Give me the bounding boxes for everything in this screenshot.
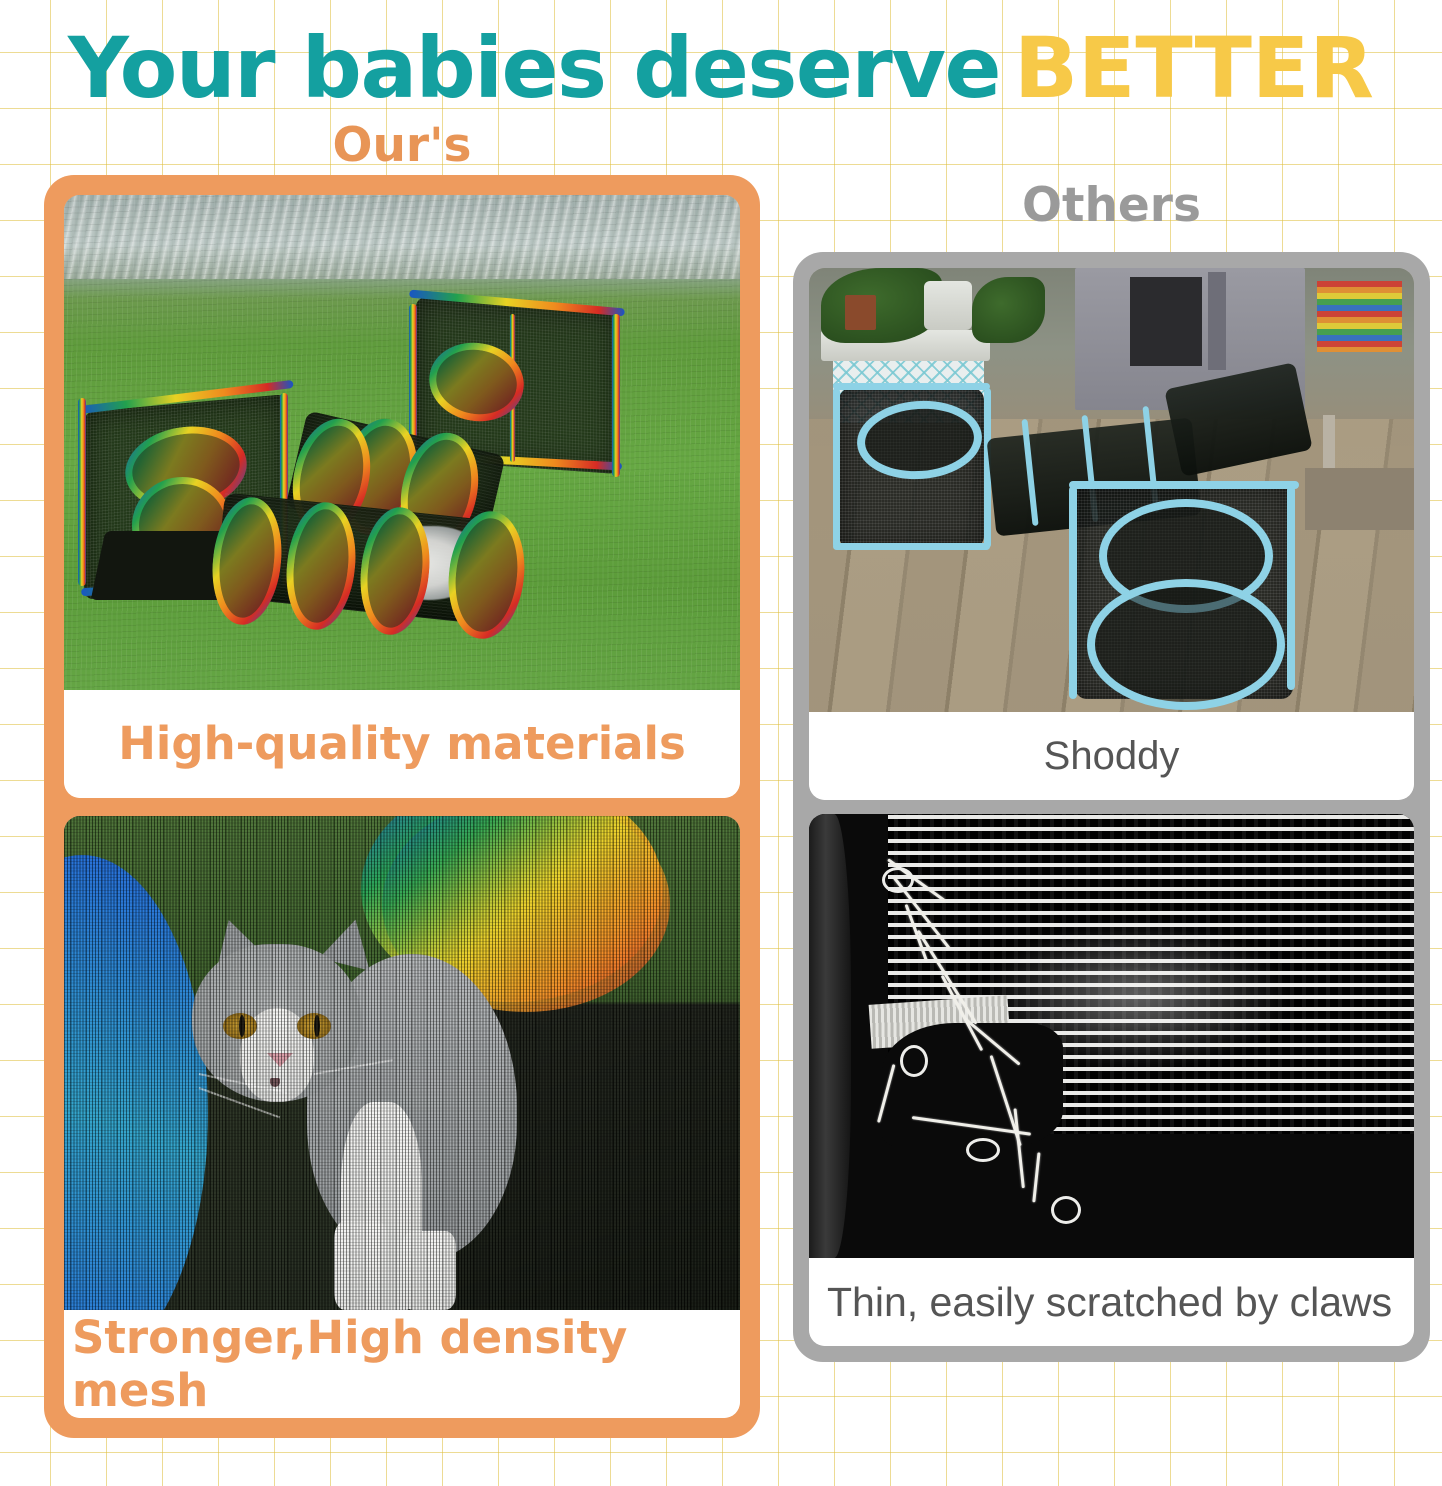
rainbow-mat	[1317, 281, 1402, 352]
rainbow-trim	[78, 398, 86, 586]
white-planter	[924, 281, 972, 330]
cat-mouth	[270, 1078, 280, 1087]
frame-rail	[809, 814, 851, 1258]
caption-shoddy: Shoddy	[809, 712, 1414, 800]
blue-trim	[1069, 486, 1077, 699]
blue-trim	[1287, 486, 1295, 690]
photo-torn-mesh	[809, 814, 1414, 1258]
panel-others-shoddy: Shoddy	[809, 268, 1414, 800]
cat-nose	[267, 1053, 293, 1067]
page-title-part2: BETTER	[1014, 19, 1374, 117]
cat-front-leg-right	[402, 1231, 456, 1310]
photo-playpen-on-grass	[64, 195, 740, 690]
thread-loop	[900, 1045, 928, 1077]
photo-cat-behind-mesh	[64, 816, 740, 1311]
column-label-others: Others	[793, 178, 1430, 233]
comparison-card-ours: High-quality materials	[44, 175, 760, 1438]
panel-others-thin-mesh: Thin, easily scratched by claws	[809, 814, 1414, 1346]
pallet-wood	[1305, 468, 1414, 530]
caption-thin-scratched: Thin, easily scratched by claws	[809, 1258, 1414, 1346]
terracotta-pot	[845, 295, 875, 331]
rainbow-trim	[612, 314, 620, 477]
coop-window	[1130, 277, 1203, 366]
coop-post	[1208, 272, 1226, 370]
comparison-card-others: Shoddy	[793, 252, 1430, 1362]
black-fabric-border	[809, 1134, 1414, 1258]
blue-window-ring	[1087, 579, 1285, 710]
page-title-part1: Your babies deserve	[68, 19, 1000, 117]
caption-high-quality-materials: High-quality materials	[64, 690, 740, 798]
panel-ours-high-density-mesh: Stronger,High density mesh	[64, 816, 740, 1419]
mesh-hole	[882, 1023, 1064, 1147]
photo-competitor-pen-on-deck	[809, 268, 1414, 712]
thread-loop	[1051, 1196, 1081, 1224]
panel-ours-high-quality-materials: High-quality materials	[64, 195, 740, 798]
blue-trim	[1069, 481, 1299, 489]
page-title: Your babies deserveBETTER	[0, 26, 1442, 110]
column-label-ours: Our's	[44, 118, 760, 173]
blue-trim	[833, 383, 990, 390]
cat-front-leg-left	[334, 1221, 388, 1310]
blue-trim	[833, 543, 990, 550]
thread-loop	[882, 867, 914, 893]
caption-high-density-mesh: Stronger,High density mesh	[64, 1310, 740, 1418]
cat-eye-left	[223, 1013, 257, 1039]
blue-trim	[833, 388, 840, 548]
potted-plant	[972, 277, 1045, 344]
